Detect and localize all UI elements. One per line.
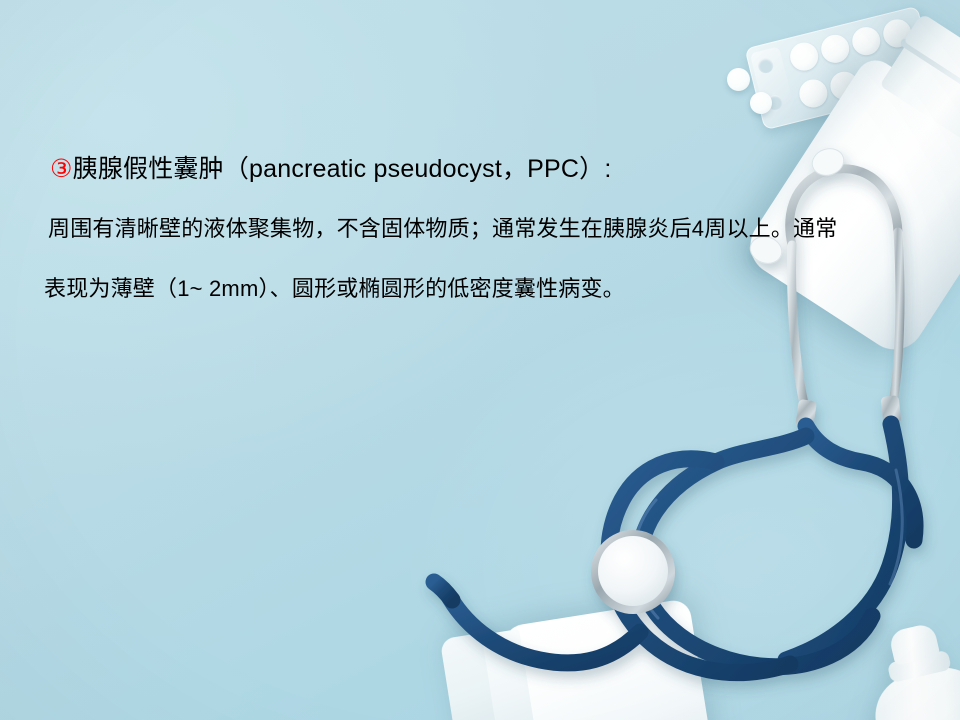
loose-pill xyxy=(727,68,750,91)
bottle-body xyxy=(501,598,717,720)
body-paragraph-line-1: 周围有清晰壁的液体聚集物，不含固体物质；通常发生在胰腺炎后4周以上。通常 xyxy=(48,213,837,245)
page-title: 胰腺假性囊肿（pancreatic pseudocyst，PPC）: xyxy=(73,155,612,183)
loose-pill xyxy=(750,92,772,114)
body-paragraph-line-2: 表现为薄壁（1~ 2mm）、圆形或椭圆形的低密度囊性病变。 xyxy=(44,273,625,305)
blister-pill xyxy=(787,40,821,74)
heading-marker: ③ xyxy=(50,155,73,183)
heading-line: ③胰腺假性囊肿（pancreatic pseudocyst，PPC）: xyxy=(50,152,612,186)
blister-pill xyxy=(818,32,852,66)
slide-canvas: ③胰腺假性囊肿（pancreatic pseudocyst，PPC）: 周围有清… xyxy=(0,0,960,720)
blister-pill xyxy=(796,76,830,110)
